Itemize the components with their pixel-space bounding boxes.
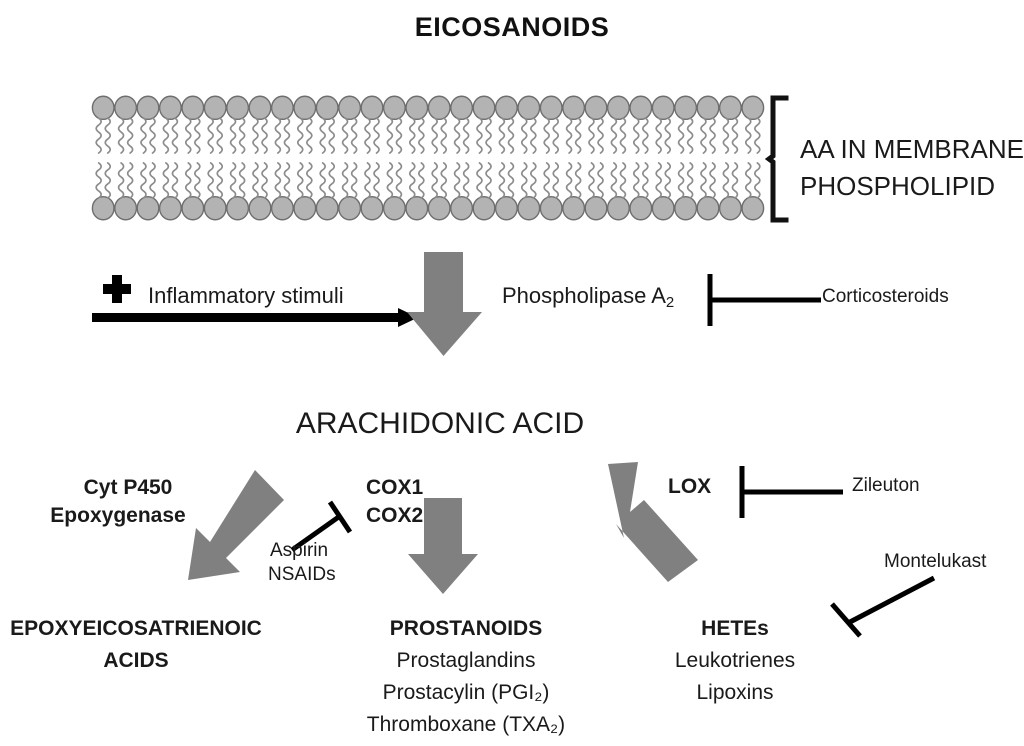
lipid-head — [496, 197, 518, 220]
prostanoids-item-0: Prostaglandins — [306, 648, 626, 675]
lipid-head — [339, 197, 361, 220]
membrane-label-line1: AA IN MEMBRANE — [800, 133, 1024, 166]
lipid-head — [563, 197, 585, 220]
lipid-head — [316, 96, 338, 119]
lipid-head — [204, 96, 226, 119]
cyt-p450-label-line1: Cyt P450 — [58, 475, 198, 502]
lipid-head — [160, 96, 182, 119]
lipid-head — [272, 96, 294, 119]
hetes-item-1: Lipoxins — [632, 680, 838, 707]
page-title: EICOSANOIDS — [0, 12, 1024, 43]
lipid-head — [720, 96, 742, 119]
lipid-head — [473, 96, 495, 119]
lipid-bilayer — [92, 96, 764, 220]
lipid-head — [652, 197, 674, 220]
lipid-head — [361, 197, 383, 220]
lipid-head — [294, 96, 316, 119]
lipid-head — [137, 197, 159, 220]
lipid-head — [585, 96, 607, 119]
lipid-head — [451, 96, 473, 119]
membrane-bracket — [768, 96, 798, 222]
hetes-item-0: Leukotrienes — [632, 648, 838, 675]
lipid-head — [92, 96, 114, 119]
lipid-head — [697, 96, 719, 119]
lipid-head — [742, 96, 764, 119]
lipid-head — [160, 197, 182, 220]
lipid-head — [272, 197, 294, 220]
prostanoids-title: PROSTANOIDS — [306, 616, 626, 643]
lipid-head — [115, 197, 137, 220]
epoxyeicosatrienoic-line1: EPOXYEICOSATRIENOIC — [0, 616, 272, 643]
lipid-head — [451, 197, 473, 220]
lipid-head — [115, 96, 137, 119]
lipid-head — [384, 96, 406, 119]
lipid-head — [204, 197, 226, 220]
lipid-head — [316, 197, 338, 220]
prostanoids-group: PROSTANOIDS Prostaglandins Prostacylin (… — [306, 616, 626, 739]
lipid-head — [92, 197, 114, 220]
bilayer-svg — [92, 96, 764, 220]
epoxyeicosatrienoic-line2: ACIDS — [0, 648, 272, 675]
lipid-head — [675, 197, 697, 220]
lipid-head — [652, 96, 674, 119]
cox-arrow — [406, 498, 482, 596]
lipid-head — [249, 197, 271, 220]
corticosteroids-label: Corticosteroids — [822, 285, 949, 309]
lipid-head — [518, 96, 540, 119]
zileuton-inhibition-line — [738, 464, 848, 520]
lipid-head — [473, 197, 495, 220]
lipid-head — [496, 96, 518, 119]
lipid-head — [428, 197, 450, 220]
lipid-head — [540, 96, 562, 119]
lipid-head — [361, 96, 383, 119]
montelukast-inhibition-line — [826, 572, 940, 640]
lipid-head — [227, 96, 249, 119]
phospholipase-arrow — [405, 252, 485, 358]
lipid-head — [630, 96, 652, 119]
hetes-title: HETEs — [632, 616, 838, 643]
lipid-head — [585, 197, 607, 220]
lipid-head — [249, 96, 271, 119]
aspirin-label: Aspirin — [270, 539, 328, 563]
stimuli-arrow — [92, 305, 422, 331]
lipid-head — [406, 96, 428, 119]
membrane-label-line2: PHOSPHOLIPID — [800, 170, 995, 203]
phospholipase-subscript: 2 — [666, 294, 674, 311]
zileuton-label: Zileuton — [852, 474, 920, 498]
lipid-head — [608, 96, 630, 119]
plus-cross-icon — [102, 274, 132, 304]
lipid-head — [406, 197, 428, 220]
prostanoids-item-2: Thromboxane (TXA₂) — [306, 712, 626, 739]
lipid-head — [294, 197, 316, 220]
lipid-head — [137, 96, 159, 119]
lipid-head — [182, 197, 204, 220]
lipid-head — [720, 197, 742, 220]
lipid-head — [339, 96, 361, 119]
lipid-head — [428, 96, 450, 119]
lipid-head — [675, 96, 697, 119]
prostanoids-item-1: Prostacylin (PGI₂) — [306, 680, 626, 707]
eicosanoid-pathway-diagram: EICOSANOIDS AA IN MEMBRANE PHOSPHOLIPID … — [0, 0, 1024, 746]
lipid-head — [563, 96, 585, 119]
lipid-head — [518, 197, 540, 220]
lipid-head — [540, 197, 562, 220]
cyt-p450-label-line2: Epoxygenase — [38, 503, 198, 530]
phospholipase-label: Phospholipase A2 — [502, 282, 674, 310]
montelukast-label: Montelukast — [884, 550, 986, 574]
lipid-head — [227, 197, 249, 220]
lipid-head — [697, 197, 719, 220]
lox-label: LOX — [668, 474, 711, 501]
phospholipase-name: Phospholipase A — [502, 283, 666, 308]
lipid-head — [384, 197, 406, 220]
lipid-head — [608, 197, 630, 220]
lipid-head — [182, 96, 204, 119]
arachidonic-acid-label: ARACHIDONIC ACID — [200, 407, 680, 441]
nsaids-label: NSAIDs — [268, 563, 336, 587]
lipid-head — [630, 197, 652, 220]
hetes-group: HETEs Leukotrienes Lipoxins — [632, 616, 838, 707]
lipid-head — [742, 197, 764, 220]
corticosteroids-inhibition-line — [706, 272, 826, 328]
